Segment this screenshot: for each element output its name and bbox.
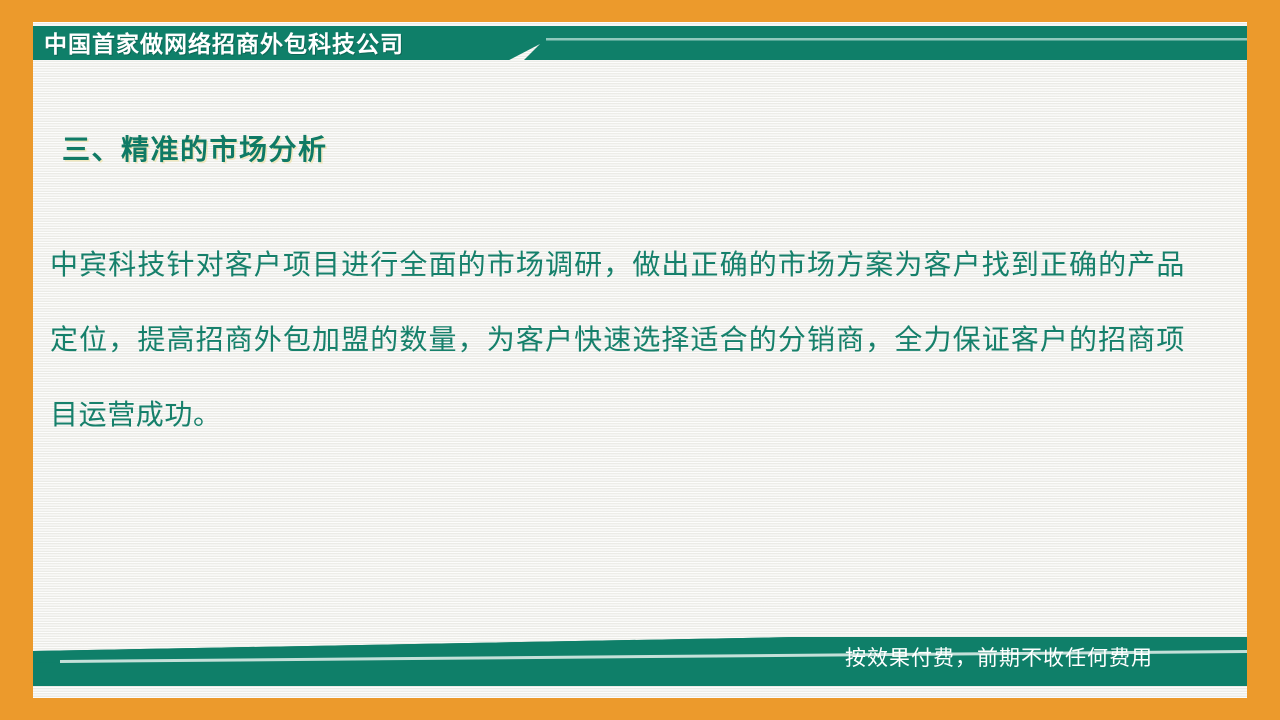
- footer-slogan: 按效果付费，前期不收任何费用: [845, 648, 1153, 669]
- page-title: 三、精准的市场分析: [62, 133, 328, 167]
- body-paragraph: 中宾科技针对客户项目进行全面的市场调研，做出正确的市场方案为客户找到正确的产品定…: [50, 228, 1185, 453]
- body-paragraph-block: 中宾科技针对客户项目进行全面的市场调研，做出正确的市场方案为客户找到正确的产品定…: [50, 228, 1185, 453]
- slide-canvas: 中国首家做网络招商外包科技公司 三、精准的市场分析 中宾科技针对客户项目进行全面…: [0, 0, 1280, 720]
- header-title: 中国首家做网络招商外包科技公司: [44, 33, 404, 56]
